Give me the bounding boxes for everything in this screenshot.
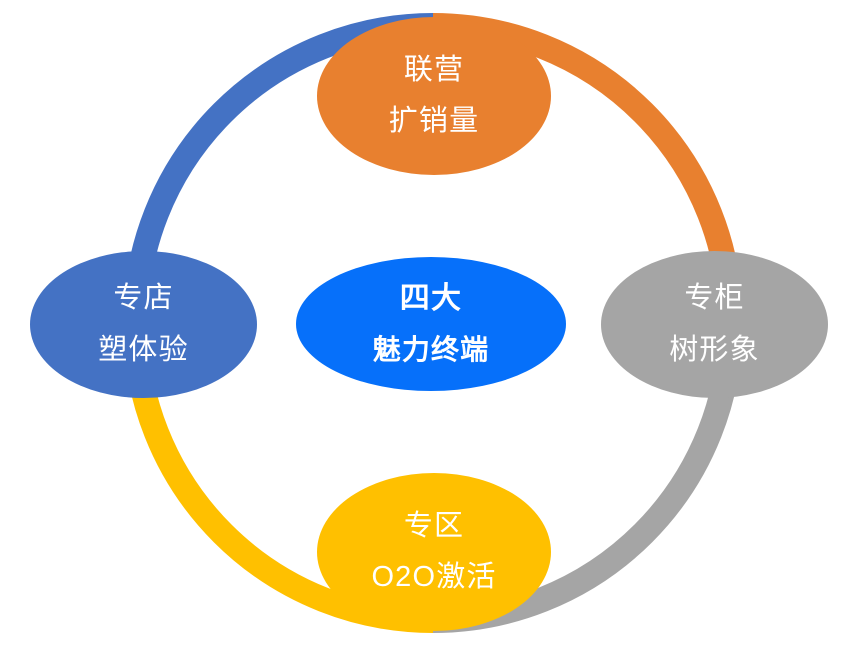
node-left-line-1: 专店 bbox=[113, 283, 173, 314]
node-left-line-2: 塑体验 bbox=[98, 335, 188, 366]
node-top-line-1: 联营 bbox=[404, 55, 464, 86]
node-right-line-2: 树形象 bbox=[669, 335, 759, 366]
node-bottom-line-2: O2O激活 bbox=[371, 562, 496, 593]
node-bottom-专区[interactable]: 专区 O2O激活 bbox=[317, 473, 551, 631]
node-bottom-line-1: 专区 bbox=[404, 511, 464, 542]
node-left-专店[interactable]: 专店 塑体验 bbox=[30, 251, 257, 398]
diagram-canvas: 联营 扩销量 专店 塑体验 专柜 树形象 专区 O2O激活 四大 魅力终端 bbox=[0, 0, 866, 647]
node-center-line-1: 四大 bbox=[400, 283, 462, 315]
node-right-line-1: 专柜 bbox=[684, 283, 744, 314]
node-top-line-2: 扩销量 bbox=[389, 106, 479, 137]
node-top-联营[interactable]: 联营 扩销量 bbox=[317, 17, 551, 175]
node-center-line-2: 魅力终端 bbox=[373, 335, 489, 365]
node-right-专柜[interactable]: 专柜 树形象 bbox=[601, 251, 828, 398]
node-center-四大魅力终端[interactable]: 四大 魅力终端 bbox=[296, 257, 566, 391]
